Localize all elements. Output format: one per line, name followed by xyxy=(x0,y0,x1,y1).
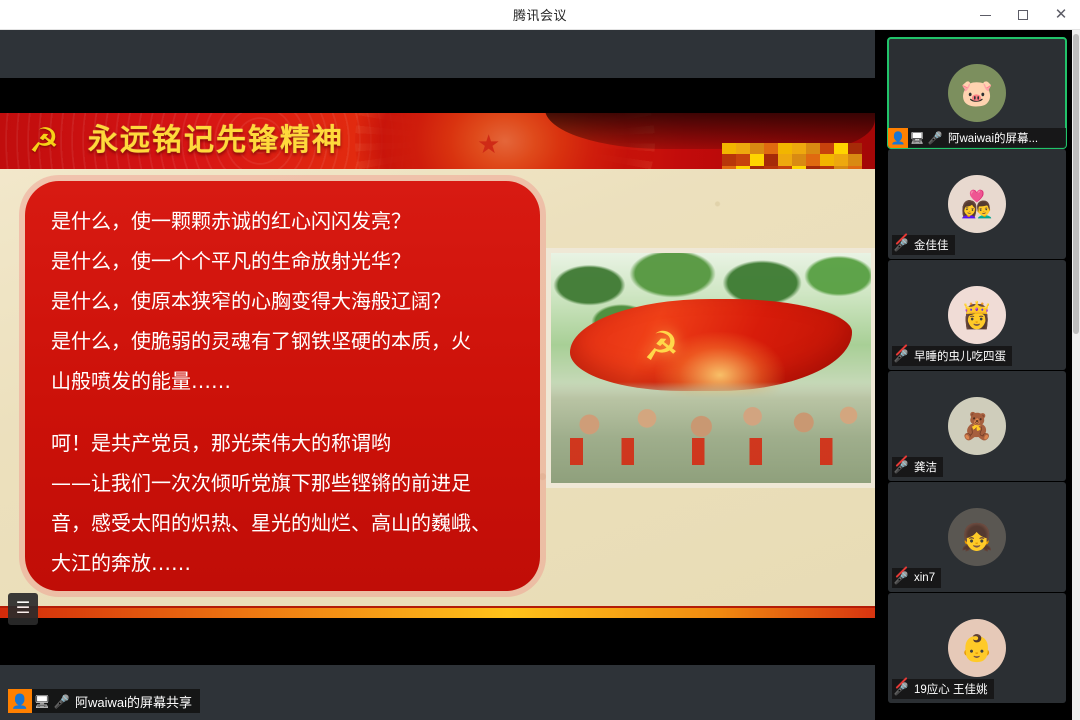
slide-text-line: 音，感受太阳的炽热、星光的灿烂、高山的巍峨、 xyxy=(51,503,514,543)
participant-badge: 🎤早睡的虫儿吃四蛋 xyxy=(892,346,1012,366)
participant-badge: 🎤xin7 xyxy=(892,568,941,588)
mosaic-cell xyxy=(792,154,806,165)
mosaic-cell xyxy=(750,143,764,154)
slide-photo-frame: ☭ xyxy=(546,248,875,488)
minimize-icon xyxy=(980,15,991,16)
close-button[interactable]: ✕ xyxy=(1042,0,1080,30)
participant-name: 龚洁 xyxy=(910,459,937,475)
person-icon: 👤 xyxy=(888,128,908,148)
participant-name: 早睡的虫儿吃四蛋 xyxy=(910,348,1006,364)
presenter-name-badge: 👤 🖥 🎤 阿waiwai的屏幕共享 xyxy=(8,689,200,713)
mic-off-icon: 🎤 xyxy=(892,235,910,255)
slide-text-line: 是什么，使脆弱的灵魂有了钢铁坚硬的本质，火 xyxy=(51,321,514,361)
window-controls: ✕ xyxy=(966,0,1080,30)
slide-text-line: 大江的奔放…… xyxy=(51,543,514,583)
mosaic-cell xyxy=(764,143,778,154)
slide-photo: ☭ xyxy=(551,253,871,483)
avatar: 👩‍❤️‍👨 xyxy=(948,175,1006,233)
screen-share-icon: 🖥 xyxy=(908,128,926,148)
avatar: 👸 xyxy=(948,286,1006,344)
shared-screen-stage[interactable]: ☭ 永远铭记先锋精神 是什么，使一颗颗赤诚的红心闪闪发亮？ 是什么，使一个个平凡… xyxy=(0,30,875,720)
slide-text-line: 是什么，使一个个平凡的生命放射光华？ xyxy=(51,241,514,281)
slide-text-line: 是什么，使原本狭窄的心胸变得大海般辽阔？ xyxy=(51,281,514,321)
slide-bottom-ribbon xyxy=(0,606,875,618)
participant-name: xin7 xyxy=(910,572,935,584)
mosaic-cell xyxy=(806,154,820,165)
slide-text-line: 呵！是共产党员，那光荣伟大的称谓哟 xyxy=(51,423,514,463)
avatar: 👧 xyxy=(948,508,1006,566)
mosaic-cell xyxy=(820,154,834,165)
maximize-button[interactable] xyxy=(1004,0,1042,30)
slide-banner: ☭ 永远铭记先锋精神 xyxy=(0,113,875,169)
participant-name: 阿waiwai的屏幕... xyxy=(944,130,1038,146)
participant-list: 🐷👤🖥🎤阿waiwai的屏幕...👩‍❤️‍👨🎤金佳佳👸🎤早睡的虫儿吃四蛋🧸🎤龚… xyxy=(875,30,1072,720)
participant-badge: 🎤金佳佳 xyxy=(892,235,955,255)
rail-scrollbar-thumb[interactable] xyxy=(1073,34,1079,334)
person-icon: 👤 xyxy=(8,689,32,713)
close-icon: ✕ xyxy=(1055,10,1068,20)
mic-off-icon: 🎤 xyxy=(892,457,910,477)
mosaic-cell xyxy=(764,166,778,169)
participant-name: 19应心 王佳姚 xyxy=(910,681,988,697)
rail-scrollbar[interactable] xyxy=(1072,30,1080,720)
window-title: 腾讯会议 xyxy=(513,5,567,24)
participant-rail[interactable]: 🐷👤🖥🎤阿waiwai的屏幕...👩‍❤️‍👨🎤金佳佳👸🎤早睡的虫儿吃四蛋🧸🎤龚… xyxy=(875,30,1080,720)
mic-on-icon: 🎤 xyxy=(926,128,944,148)
mic-off-icon: 🎤 xyxy=(892,568,910,588)
mosaic-cell xyxy=(834,143,848,154)
mosaic-cell xyxy=(736,143,750,154)
participant-badge: 🎤19应心 王佳姚 xyxy=(892,679,994,699)
mic-off-icon: 🎤 xyxy=(892,346,910,366)
share-canvas[interactable]: ☭ 永远铭记先锋精神 是什么，使一颗颗赤诚的红心闪闪发亮？ 是什么，使一个个平凡… xyxy=(0,78,875,665)
mosaic-cell xyxy=(722,166,736,169)
mic-off-icon: 🎤 xyxy=(892,679,910,699)
paragraph-spacer xyxy=(51,401,514,423)
avatar: 🧸 xyxy=(948,397,1006,455)
avatar: 👶 xyxy=(948,619,1006,677)
participant-tile[interactable]: 👧🎤xin7 xyxy=(888,482,1066,592)
mic-on-icon: 🎤 xyxy=(52,689,72,713)
mosaic-cell xyxy=(792,166,806,169)
participant-badge: 🎤龚洁 xyxy=(892,457,943,477)
mosaic-cell xyxy=(764,154,778,165)
mosaic-cell xyxy=(848,166,862,169)
participant-tile[interactable]: 🧸🎤龚洁 xyxy=(888,371,1066,481)
hammer-sickle-icon: ☭ xyxy=(24,122,64,160)
mosaic-cell xyxy=(750,154,764,165)
photo-soldiers xyxy=(551,382,871,483)
participant-tile[interactable]: 👸🎤早睡的虫儿吃四蛋 xyxy=(888,260,1066,370)
slide-text-panel: 是什么，使一颗颗赤诚的红心闪闪发亮？ 是什么，使一个个平凡的生命放射光华？ 是什… xyxy=(25,181,540,591)
slide-paragraph-2: 呵！是共产党员，那光荣伟大的称谓哟 ——让我们一次次倾听党旗下那些铿锵的前进足 … xyxy=(51,423,514,583)
mosaic-cell xyxy=(722,143,736,154)
presenter-name: 阿waiwai的屏幕共享 xyxy=(72,692,192,711)
mosaic-cell xyxy=(778,154,792,165)
mosaic-cell xyxy=(792,143,806,154)
slide-text-line: 山般喷发的能量…… xyxy=(51,361,514,401)
mosaic-cell xyxy=(750,166,764,169)
participant-tile[interactable]: 👩‍❤️‍👨🎤金佳佳 xyxy=(888,149,1066,259)
mosaic-cell xyxy=(834,154,848,165)
minimize-button[interactable] xyxy=(966,0,1004,30)
mosaic-cell xyxy=(736,166,750,169)
participant-name: 金佳佳 xyxy=(910,237,949,253)
slide-text-line: ——让我们一次次倾听党旗下那些铿锵的前进足 xyxy=(51,463,514,503)
participant-badge: 👤🖥🎤阿waiwai的屏幕... xyxy=(888,128,1066,148)
participant-tile[interactable]: 👶🎤19应心 王佳姚 xyxy=(888,593,1066,703)
slide-paragraph-1: 是什么，使一颗颗赤诚的红心闪闪发亮？ 是什么，使一个个平凡的生命放射光华？ 是什… xyxy=(51,201,514,401)
list-icon[interactable]: ☰ xyxy=(8,593,38,625)
mosaic-cell xyxy=(848,154,862,165)
slide-banner-title: 永远铭记先锋精神 xyxy=(88,122,344,160)
slide-text-line: 是什么，使一颗颗赤诚的红心闪闪发亮？ xyxy=(51,201,514,241)
mosaic-cell xyxy=(778,143,792,154)
mosaic-cell xyxy=(722,154,736,165)
screen-share-icon: 🖥 xyxy=(32,689,52,713)
mosaic-cell xyxy=(848,143,862,154)
maximize-icon xyxy=(1018,10,1028,20)
mosaic-cell xyxy=(834,166,848,169)
mosaic-cell xyxy=(806,143,820,154)
mosaic-cell xyxy=(778,166,792,169)
avatar: 🐷 xyxy=(948,64,1006,122)
flag-hammer-sickle-icon: ☭ xyxy=(643,327,679,367)
mosaic-cell xyxy=(820,166,834,169)
presentation-slide: ☭ 永远铭记先锋精神 是什么，使一颗颗赤诚的红心闪闪发亮？ 是什么，使一个个平凡… xyxy=(0,113,875,618)
participant-tile[interactable]: 🐷👤🖥🎤阿waiwai的屏幕... xyxy=(888,38,1066,148)
censored-mosaic-block xyxy=(722,143,862,169)
window-titlebar: 腾讯会议 ✕ xyxy=(0,0,1080,30)
mosaic-cell xyxy=(806,166,820,169)
mosaic-cell xyxy=(820,143,834,154)
mosaic-cell xyxy=(736,154,750,165)
